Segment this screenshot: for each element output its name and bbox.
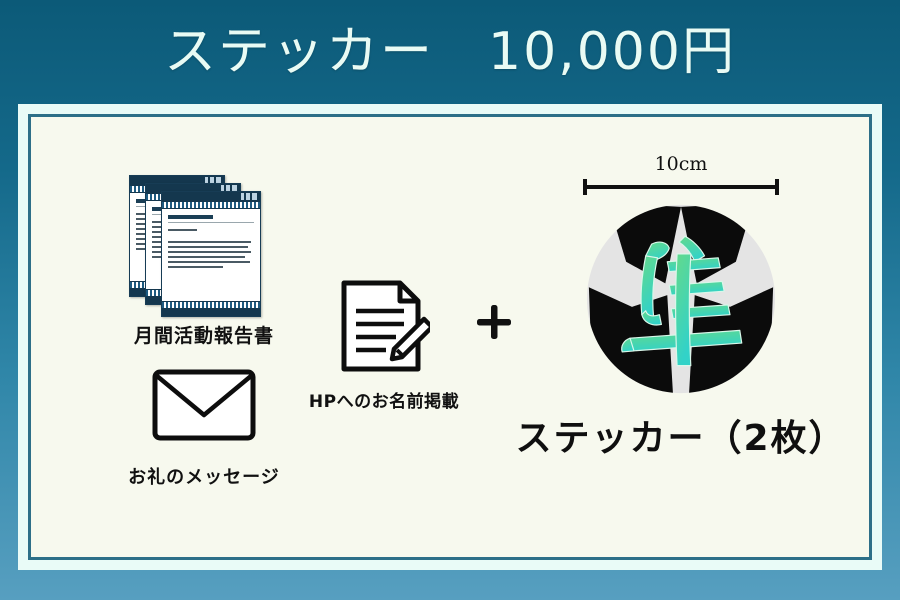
measure-label: 10cm [583, 153, 779, 175]
hayabusa-falcon-kanji-logo [583, 201, 779, 397]
reward-item-homepage-listing: HPへのお名前掲載 [289, 279, 479, 412]
content-frame-outer: 月間活動報告書 お礼のメッセージ [18, 104, 882, 570]
reward-label-monthly-report: 月間活動報告書 [109, 321, 299, 348]
page-title: ステッカー 10,000円 [164, 26, 736, 78]
size-measure: 10cm [583, 153, 779, 195]
stacked-documents-icon [129, 175, 279, 305]
header: ステッカー 10,000円 [0, 12, 900, 92]
poster-canvas: ステッカー 10,000円 [0, 0, 900, 600]
sticker-showcase: 10cm [486, 153, 876, 461]
envelope-icon [152, 369, 256, 441]
sticker-caption: ステッカー（2枚） [486, 409, 876, 461]
reward-item-thankyou-message: お礼のメッセージ [109, 369, 299, 489]
reward-item-monthly-report: 月間活動報告書 [109, 175, 299, 348]
document-with-pencil-icon [338, 279, 430, 373]
document-page-front [161, 191, 261, 317]
reward-label-thankyou-message: お礼のメッセージ [109, 463, 299, 489]
measure-bar [583, 179, 779, 195]
content-frame-inner: 月間活動報告書 お礼のメッセージ [28, 114, 872, 560]
reward-label-homepage-listing: HPへのお名前掲載 [289, 387, 479, 412]
